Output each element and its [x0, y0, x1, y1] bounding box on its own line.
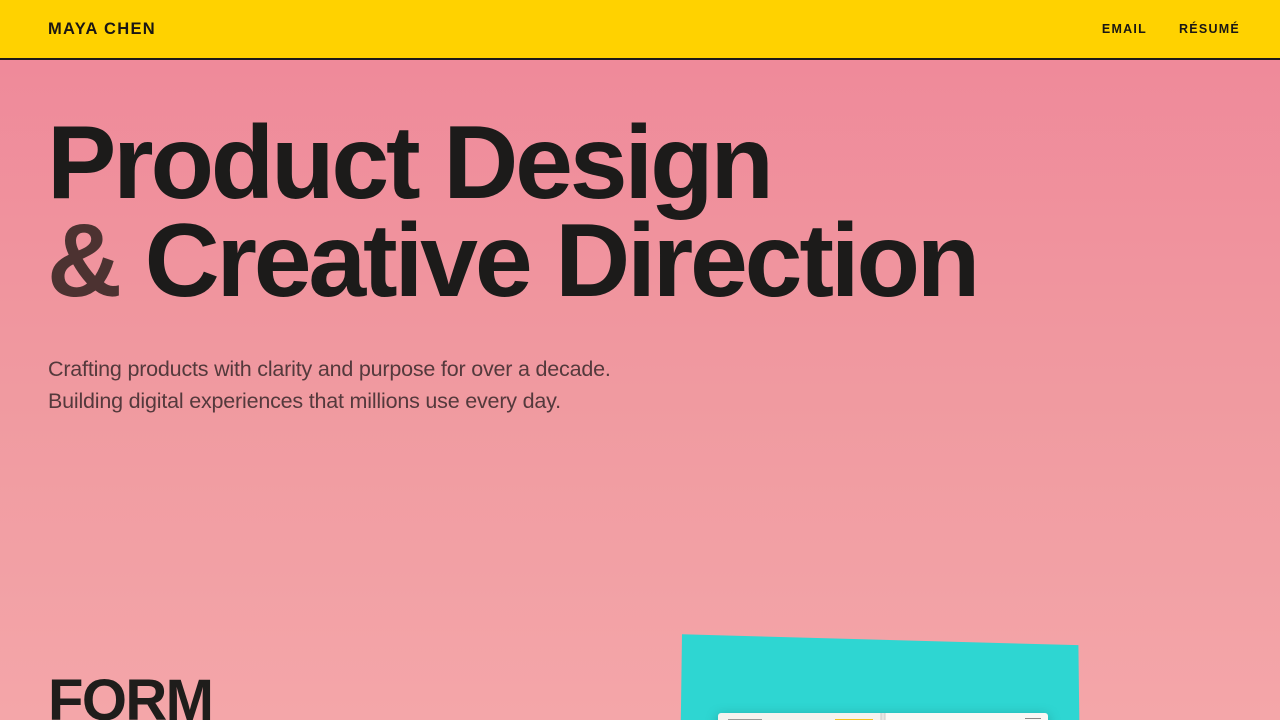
brand-name[interactable]: MAYA CHEN — [48, 20, 156, 39]
main-navigation: EMAIL RÉSUMÉ — [1102, 22, 1240, 36]
headline-line-2: Creative Direction — [119, 203, 977, 319]
hero-subtitle: Crafting products with clarity and purpo… — [48, 354, 611, 418]
nav-link-email[interactable]: EMAIL — [1102, 22, 1147, 36]
magazine-right-page — [881, 713, 1048, 720]
page-title: Product Design& Creative Direction — [47, 115, 977, 311]
subtitle-line-2: Building digital experiences that millio… — [48, 386, 611, 418]
magazine-left-page: The ZIN — [718, 713, 881, 720]
magazine-photo: The ZIN — [680, 625, 1080, 720]
open-magazine: The ZIN — [718, 713, 1048, 720]
headline-ampersand: & — [47, 203, 119, 319]
nav-link-resume[interactable]: RÉSUMÉ — [1179, 22, 1240, 36]
teal-paper-sheet — [680, 625, 1080, 720]
hero-section: Product Design& Creative Direction Craft… — [0, 60, 1280, 720]
section-heading-form: FORM — [48, 672, 212, 720]
subtitle-line-1: Crafting products with clarity and purpo… — [48, 354, 611, 386]
site-header: MAYA CHEN EMAIL RÉSUMÉ — [0, 0, 1280, 60]
